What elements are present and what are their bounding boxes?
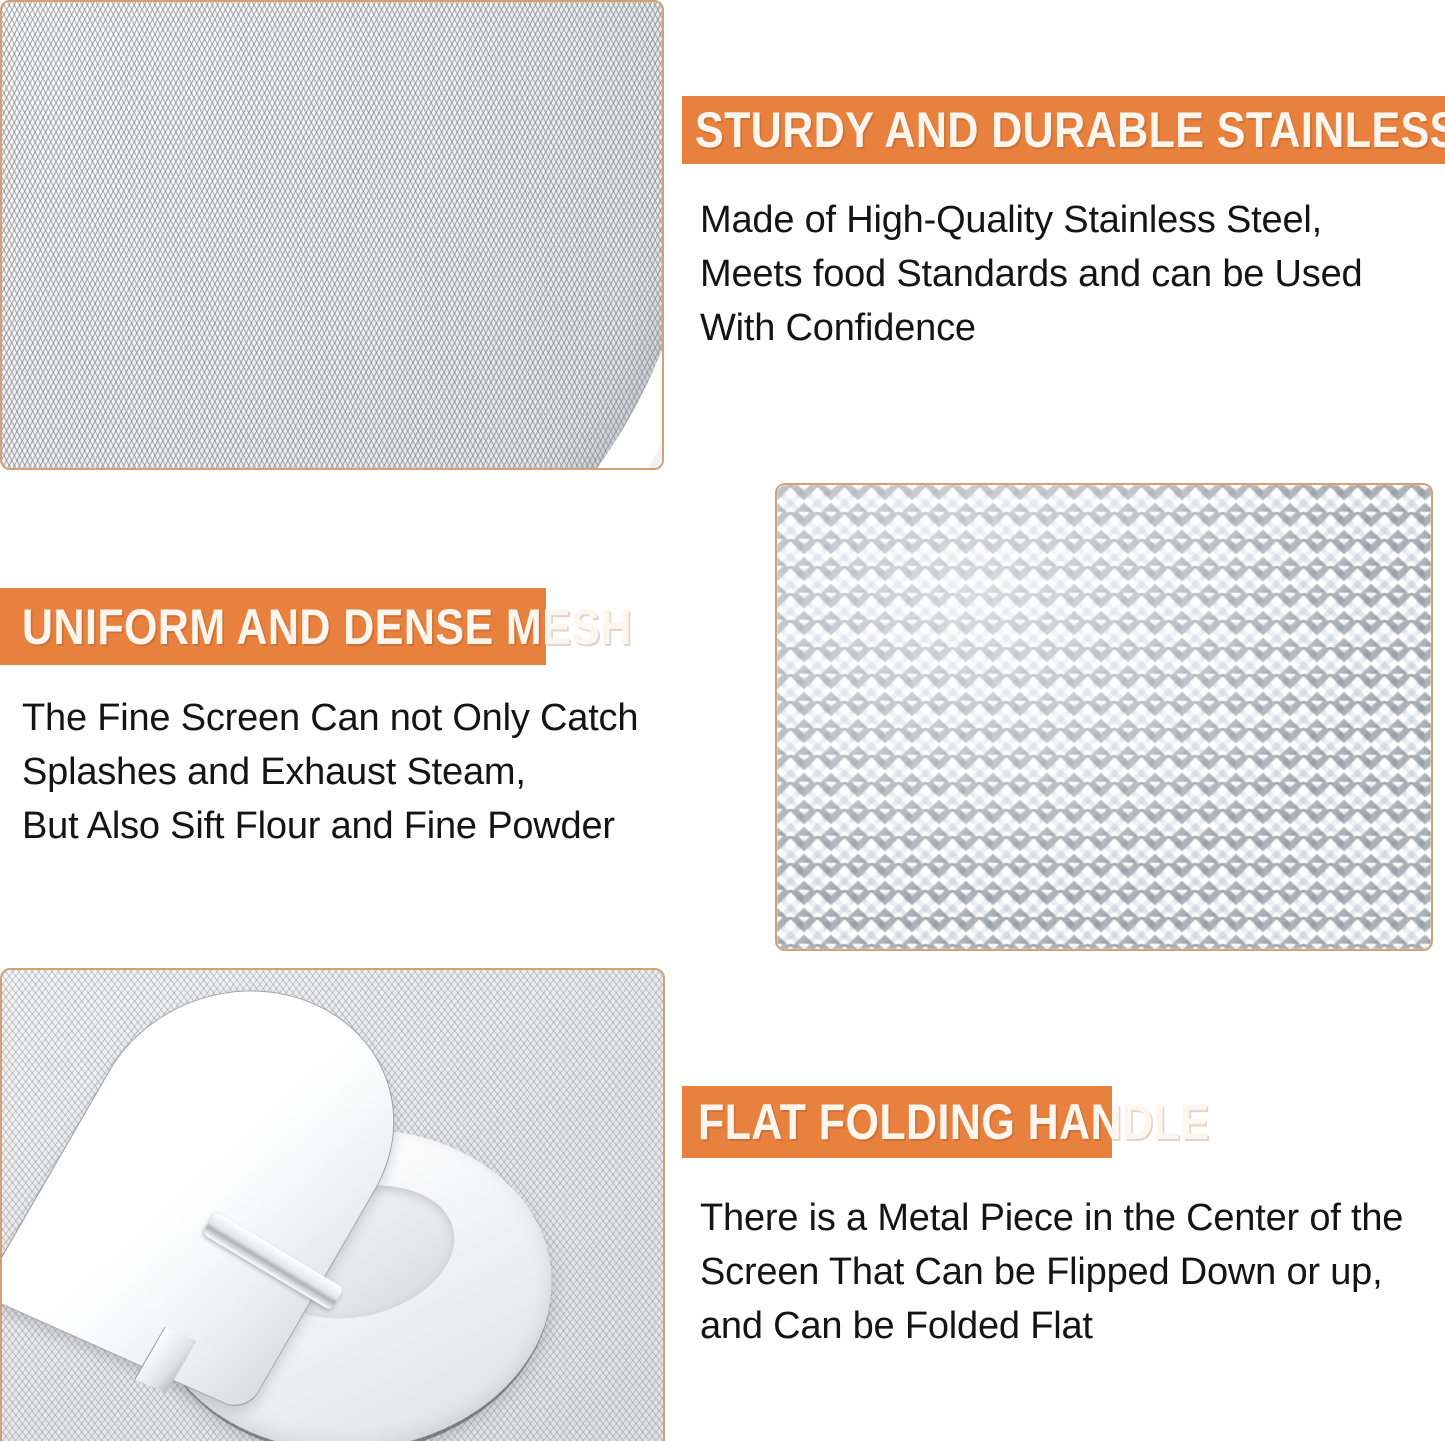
body-line: With Confidence (700, 302, 1362, 356)
body-line: Made of High-Quality Stainless Steel, (700, 194, 1362, 248)
body-line: Meets food Standards and can be Used (700, 248, 1362, 302)
feature-image-stainless-steel-screen (0, 0, 664, 470)
feature-headline-bar-dense-mesh: UNIFORM AND DENSE MESH (0, 588, 546, 665)
body-line: Screen That Can be Flipped Down or up, (700, 1246, 1403, 1300)
screen-photo-stage (2, 2, 662, 468)
feature-body-folding-handle: There is a Metal Piece in the Center of … (700, 1192, 1403, 1354)
body-line: Splashes and Exhaust Steam, (22, 746, 638, 800)
infographic-page: STURDY AND DURABLE STAINLESS STEEL Made … (0, 0, 1445, 1441)
feature-body-dense-mesh: The Fine Screen Can not Only Catch Splas… (22, 692, 638, 854)
mesh-disc (0, 0, 664, 470)
feature-image-folding-handle (0, 968, 665, 1441)
feature-headline-bar-folding-handle: FLAT FOLDING HANDLE (682, 1086, 1112, 1158)
body-line: The Fine Screen Can not Only Catch (22, 692, 638, 746)
body-line: But Also Sift Flour and Fine Powder (22, 800, 638, 854)
feature-image-macro-mesh (775, 483, 1433, 951)
mesh-weave-sheen (777, 485, 1431, 949)
feature-headline-text-dense-mesh: UNIFORM AND DENSE MESH (22, 598, 632, 656)
body-line: There is a Metal Piece in the Center of … (700, 1192, 1403, 1246)
feature-headline-text-stainless-steel: STURDY AND DURABLE STAINLESS STEEL (695, 101, 1445, 159)
feature-headline-bar-stainless-steel: STURDY AND DURABLE STAINLESS STEEL (682, 96, 1445, 164)
body-line: and Can be Folded Flat (700, 1300, 1403, 1354)
feature-headline-text-folding-handle: FLAT FOLDING HANDLE (698, 1093, 1209, 1151)
feature-body-stainless-steel: Made of High-Quality Stainless Steel, Me… (700, 194, 1362, 356)
